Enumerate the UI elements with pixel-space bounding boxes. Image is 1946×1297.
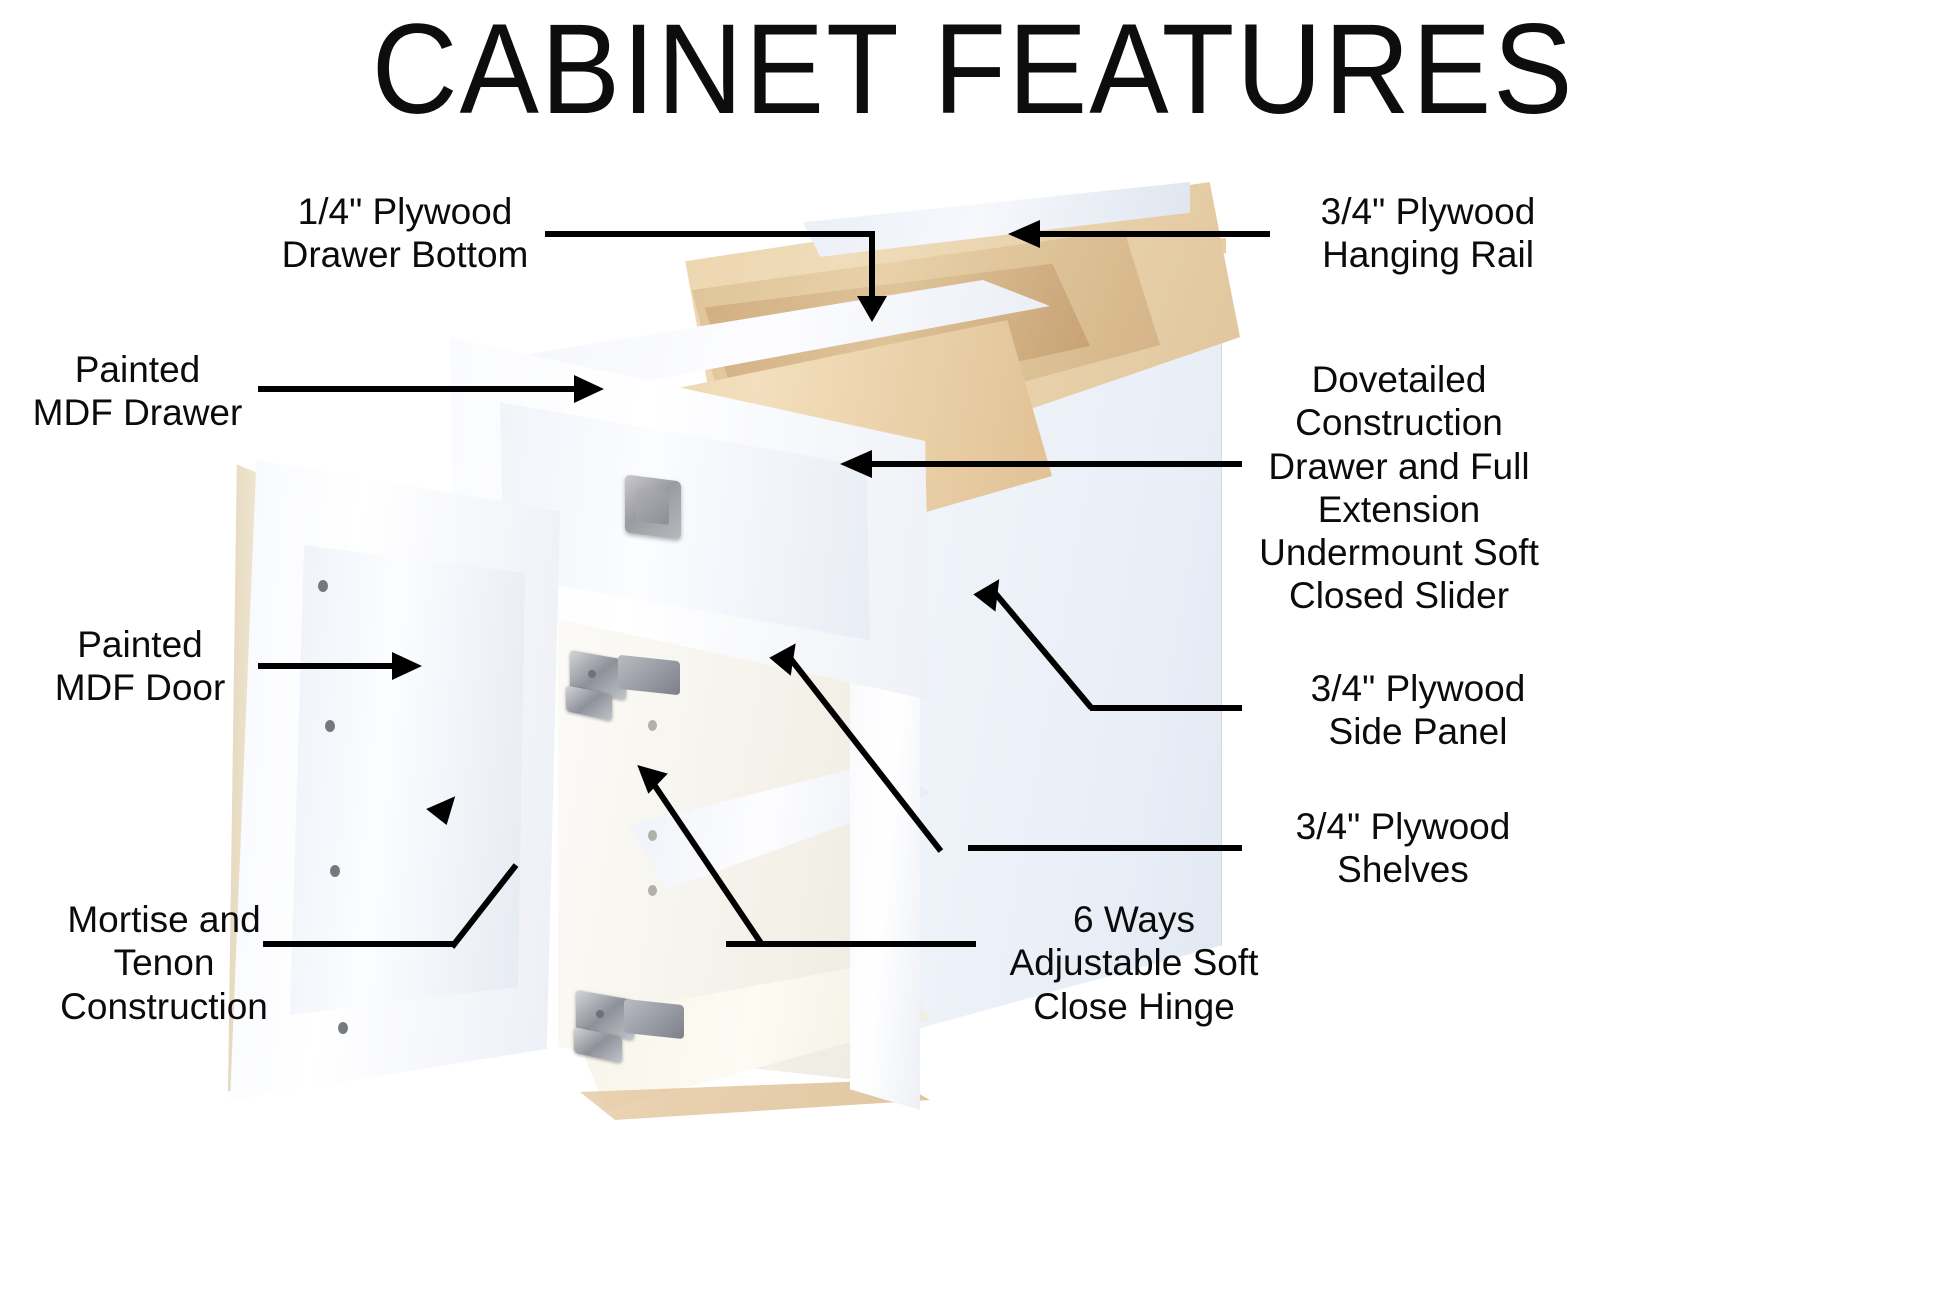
soft-close-hinge-upper-arm xyxy=(618,655,680,696)
hinge-screw xyxy=(588,670,596,678)
door-hinge-screw-hole xyxy=(338,1022,348,1034)
arrowhead-painted-door xyxy=(392,652,422,680)
label-hanging-rail: 3/4" Plywood Hanging Rail xyxy=(1273,190,1583,277)
leader-line-drawer-bottom xyxy=(545,231,875,237)
hinge-screw xyxy=(596,1010,604,1018)
arrowhead-hanging-rail xyxy=(1008,220,1040,248)
shelf-pin-hole xyxy=(648,830,657,841)
label-shelves: 3/4" Plywood Shelves xyxy=(1248,805,1558,892)
door-hinge-screw-hole xyxy=(325,720,335,732)
door-hinge-screw-hole xyxy=(330,865,340,877)
arrowhead-drawer-bottom xyxy=(857,296,887,322)
leader-line-painted-door xyxy=(258,663,394,669)
leader-line-shelves xyxy=(968,845,1242,851)
leader-line-drawer-bottom-vertical xyxy=(869,231,875,299)
leader-line-hanging-rail xyxy=(1040,231,1270,237)
label-side-panel: 3/4" Plywood Side Panel xyxy=(1263,667,1573,754)
drawer-knob-face xyxy=(636,488,669,525)
label-drawer-bottom: 1/4" Plywood Drawer Bottom xyxy=(250,190,560,277)
label-painted-door: Painted MDF Door xyxy=(25,623,255,710)
label-soft-close-hinge: 6 Ways Adjustable Soft Close Hinge xyxy=(978,898,1290,1028)
door-hinge-screw-hole xyxy=(318,580,328,592)
label-painted-drawer: Painted MDF Drawer xyxy=(15,348,260,435)
shelf-pin-hole xyxy=(648,885,657,896)
arrowhead-painted-drawer xyxy=(574,375,604,403)
leader-line-dovetail xyxy=(872,461,1242,467)
leader-line-side-panel xyxy=(1090,705,1242,711)
arrowhead-dovetail xyxy=(840,450,872,478)
label-mortise-tenon: Mortise and Tenon Construction xyxy=(30,898,298,1028)
shelf-pin-hole xyxy=(648,720,657,731)
page-title: CABINET FEATURES xyxy=(68,6,1878,134)
leader-line-painted-drawer xyxy=(258,386,576,392)
soft-close-hinge-lower-arm xyxy=(624,999,684,1039)
label-dovetail-slider: Dovetailed Construction Drawer and Full … xyxy=(1248,358,1550,618)
